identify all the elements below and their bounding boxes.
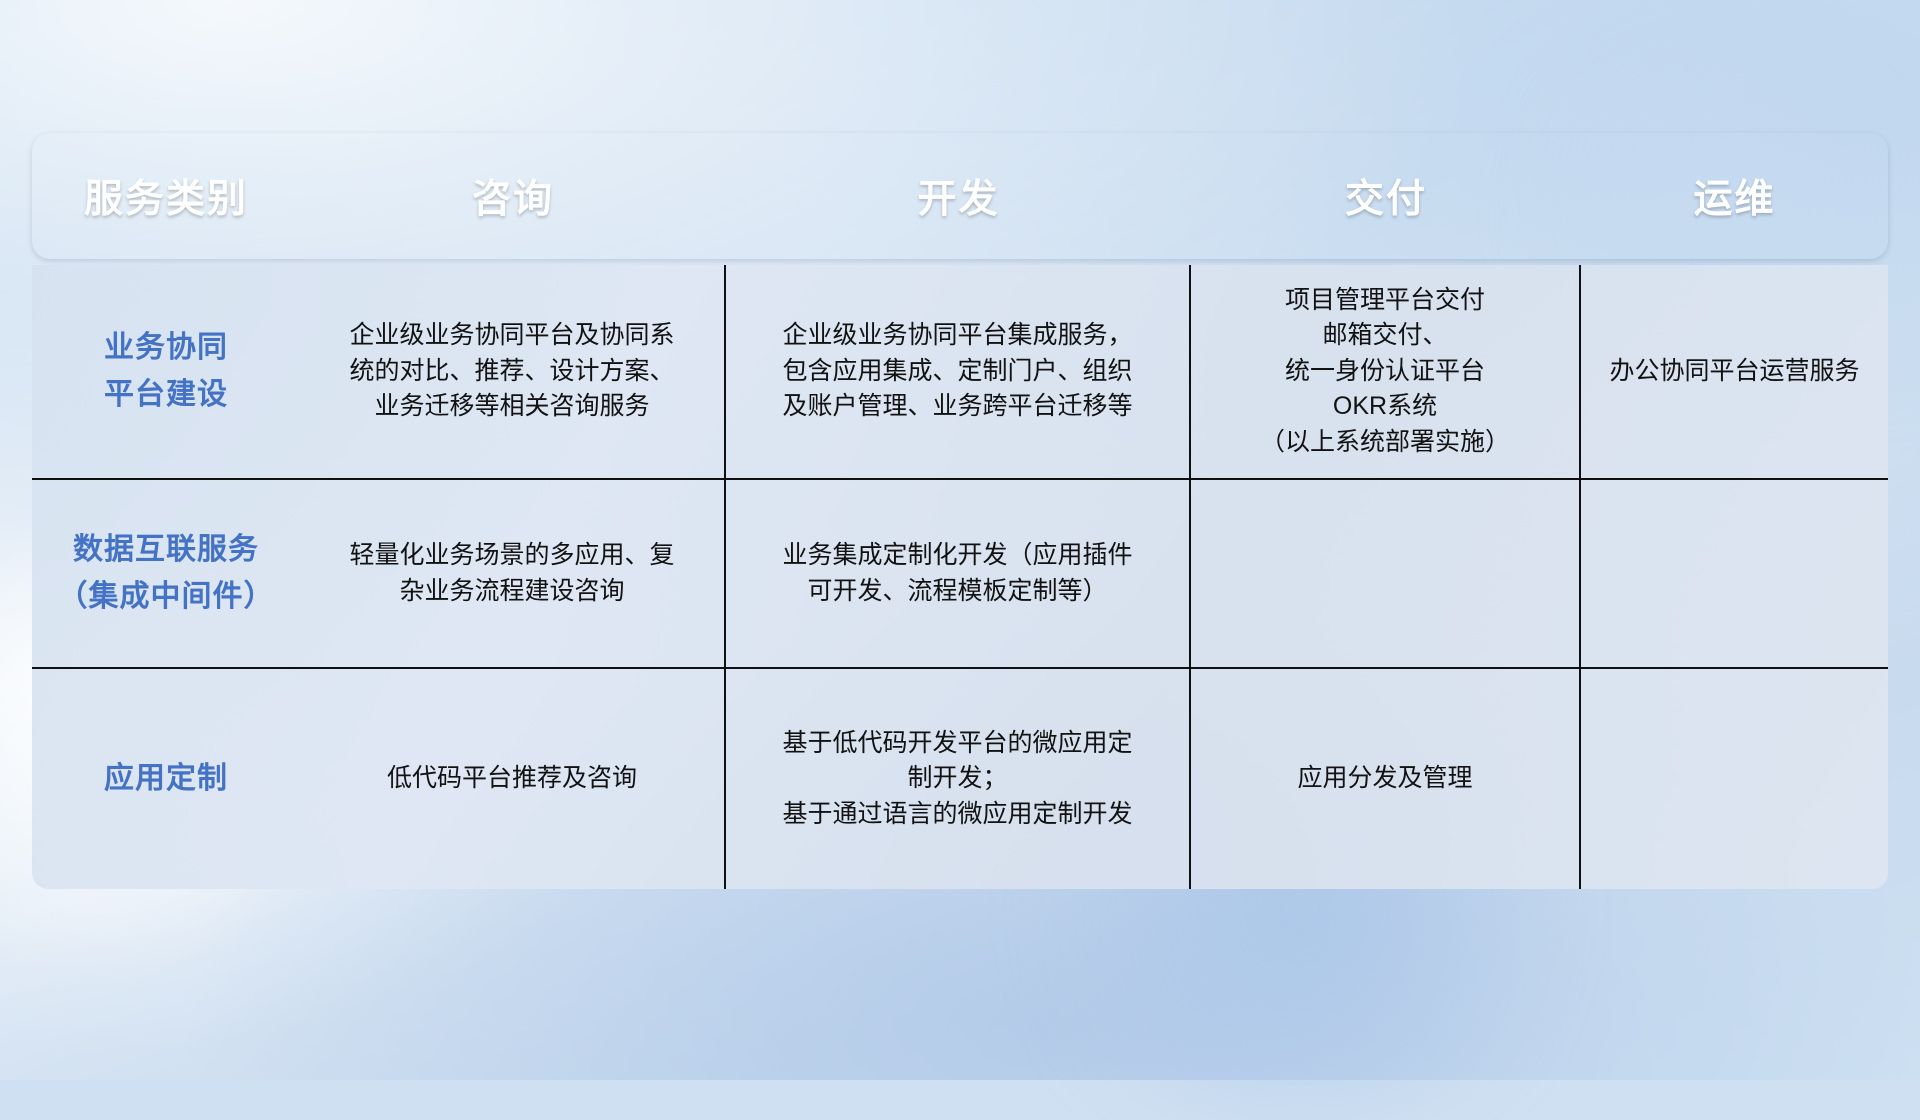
cell-row2-consulting: 低代码平台推荐及咨询 — [300, 669, 726, 889]
column-header-consulting: 咨询 — [300, 133, 726, 259]
service-category-table: 服务类别 咨询 开发 交付 运维 业务协同 平台建设 企业级业务协同平台及协同系… — [32, 133, 1888, 889]
cell-row2-operations — [1581, 669, 1888, 889]
cell-row2-delivery: 应用分发及管理 — [1191, 669, 1581, 889]
column-header-development: 开发 — [726, 133, 1191, 259]
row-label-business-collaboration: 业务协同 平台建设 — [32, 265, 300, 478]
cell-row1-delivery — [1191, 480, 1581, 667]
column-header-category: 服务类别 — [32, 133, 300, 259]
table-row: 数据互联服务 （集成中间件） 轻量化业务场景的多应用、复 杂业务流程建设咨询 业… — [32, 478, 1888, 667]
cell-row0-development: 企业级业务协同平台集成服务， 包含应用集成、定制门户、组织 及账户管理、业务跨平… — [726, 265, 1191, 478]
cell-row2-development: 基于低代码开发平台的微应用定 制开发； 基于通过语言的微应用定制开发 — [726, 669, 1191, 889]
cell-row1-development: 业务集成定制化开发（应用插件 可开发、流程模板定制等） — [726, 480, 1191, 667]
cell-row1-consulting: 轻量化业务场景的多应用、复 杂业务流程建设咨询 — [300, 480, 726, 667]
column-header-operations: 运维 — [1581, 133, 1888, 259]
cell-row0-operations: 办公协同平台运营服务 — [1581, 265, 1888, 478]
row-label-data-interconnect: 数据互联服务 （集成中间件） — [32, 480, 300, 667]
table-header-row: 服务类别 咨询 开发 交付 运维 — [32, 133, 1888, 259]
cell-row1-operations — [1581, 480, 1888, 667]
column-header-delivery: 交付 — [1191, 133, 1581, 259]
table-row: 业务协同 平台建设 企业级业务协同平台及协同系 统的对比、推荐、设计方案、 业务… — [32, 265, 1888, 478]
table-row: 应用定制 低代码平台推荐及咨询 基于低代码开发平台的微应用定 制开发； 基于通过… — [32, 667, 1888, 889]
cell-row0-delivery: 项目管理平台交付 邮箱交付、 统一身份认证平台 OKR系统 （以上系统部署实施） — [1191, 265, 1581, 478]
cell-row0-consulting: 企业级业务协同平台及协同系 统的对比、推荐、设计方案、 业务迁移等相关咨询服务 — [300, 265, 726, 478]
table-body: 业务协同 平台建设 企业级业务协同平台及协同系 统的对比、推荐、设计方案、 业务… — [32, 265, 1888, 889]
row-label-application-customization: 应用定制 — [32, 669, 300, 889]
